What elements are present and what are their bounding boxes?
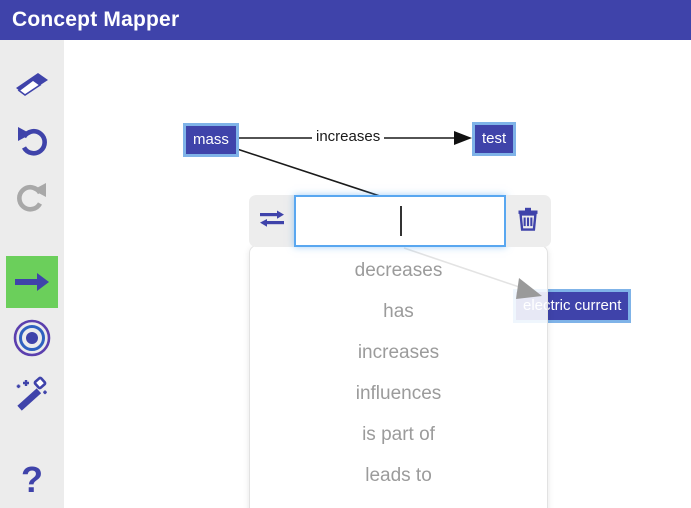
app-root: Concept Mapper [0,0,691,508]
target-icon [13,319,51,357]
page-title: Concept Mapper [0,8,179,32]
trash-icon [517,207,539,236]
help-icon: ? [21,462,43,498]
swap-arrows-icon [259,209,285,234]
dropdown-option[interactable]: is part of [250,414,547,455]
arrow-right-icon [14,272,50,292]
relation-suggestions-dropdown[interactable]: decreases has increases influences is pa… [249,245,548,508]
redo-icon [14,178,50,214]
edge-label[interactable]: increases [312,128,384,145]
sidebar-item-redo[interactable] [6,170,58,222]
dropdown-option[interactable]: increases [250,332,547,373]
sidebar-item-help[interactable]: ? [6,454,58,506]
concept-map-canvas[interactable]: increases mass test electric current dec… [64,40,691,508]
dropdown-option[interactable]: leads to [250,455,547,496]
dropdown-option[interactable]: influences [250,373,547,414]
dropdown-option[interactable]: decreases [250,250,547,291]
eraser-icon [15,72,49,96]
sidebar-item-add-concept[interactable] [6,312,58,364]
magic-wand-icon [14,376,50,412]
concept-node-mass[interactable]: mass [183,123,239,157]
sidebar-item-add-link[interactable] [6,256,58,308]
sidebar-item-undo[interactable] [6,114,58,166]
sidebar-item-eraser[interactable] [6,58,58,110]
dropdown-option[interactable]: has [250,291,547,332]
delete-link-button[interactable] [506,195,551,247]
undo-icon [14,122,50,158]
tool-sidebar: ? [0,40,64,508]
sidebar-item-auto-layout[interactable] [6,368,58,420]
reverse-direction-button[interactable] [249,195,294,247]
text-cursor [400,206,402,236]
concept-node-test[interactable]: test [472,122,516,156]
app-header: Concept Mapper [0,0,691,40]
